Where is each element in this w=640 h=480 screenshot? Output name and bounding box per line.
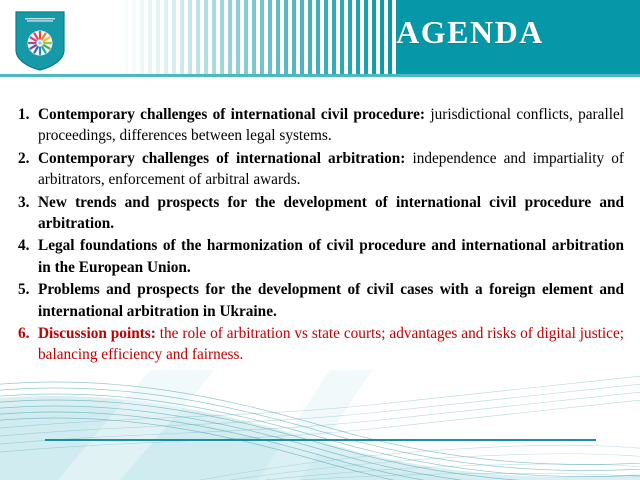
agenda-item-number: 3.	[18, 192, 29, 213]
agenda-item-2: 2. Contemporary challenges of internatio…	[18, 148, 624, 191]
agenda-item-3: 3. New trends and prospects for the deve…	[18, 192, 624, 235]
agenda-item-lead: Contemporary challenges of international…	[38, 150, 405, 167]
agenda-slide: AGENDA	[0, 0, 640, 480]
agenda-item-5: 5. Problems and prospects for the develo…	[18, 279, 624, 322]
agenda-item-lead: Legal foundations of the harmonization o…	[38, 237, 624, 275]
agenda-list: 1. Contemporary challenges of internatio…	[18, 104, 624, 367]
agenda-item-number: 1.	[18, 104, 29, 125]
agenda-item-number: 4.	[18, 235, 29, 256]
agenda-item-lead: Contemporary challenges of international…	[38, 106, 425, 123]
agenda-item-number: 6.	[18, 323, 29, 344]
agenda-item-lead: Problems and prospects for the developme…	[38, 281, 624, 319]
agenda-item-6: 6. Discussion points: the role of arbitr…	[18, 323, 624, 366]
agenda-item-lead: Discussion points:	[38, 325, 156, 342]
university-shield-logo	[14, 10, 66, 72]
agenda-item-number: 5.	[18, 279, 29, 300]
wave-decoration	[0, 370, 640, 480]
bottom-rule	[45, 439, 596, 441]
header-underline	[0, 74, 640, 77]
agenda-item-4: 4. Legal foundations of the harmonizatio…	[18, 235, 624, 278]
page-title: AGENDA	[300, 14, 640, 51]
agenda-item-1: 1. Contemporary challenges of internatio…	[18, 104, 624, 147]
agenda-item-number: 2.	[18, 148, 29, 169]
agenda-item-lead: New trends and prospects for the develop…	[38, 194, 624, 232]
